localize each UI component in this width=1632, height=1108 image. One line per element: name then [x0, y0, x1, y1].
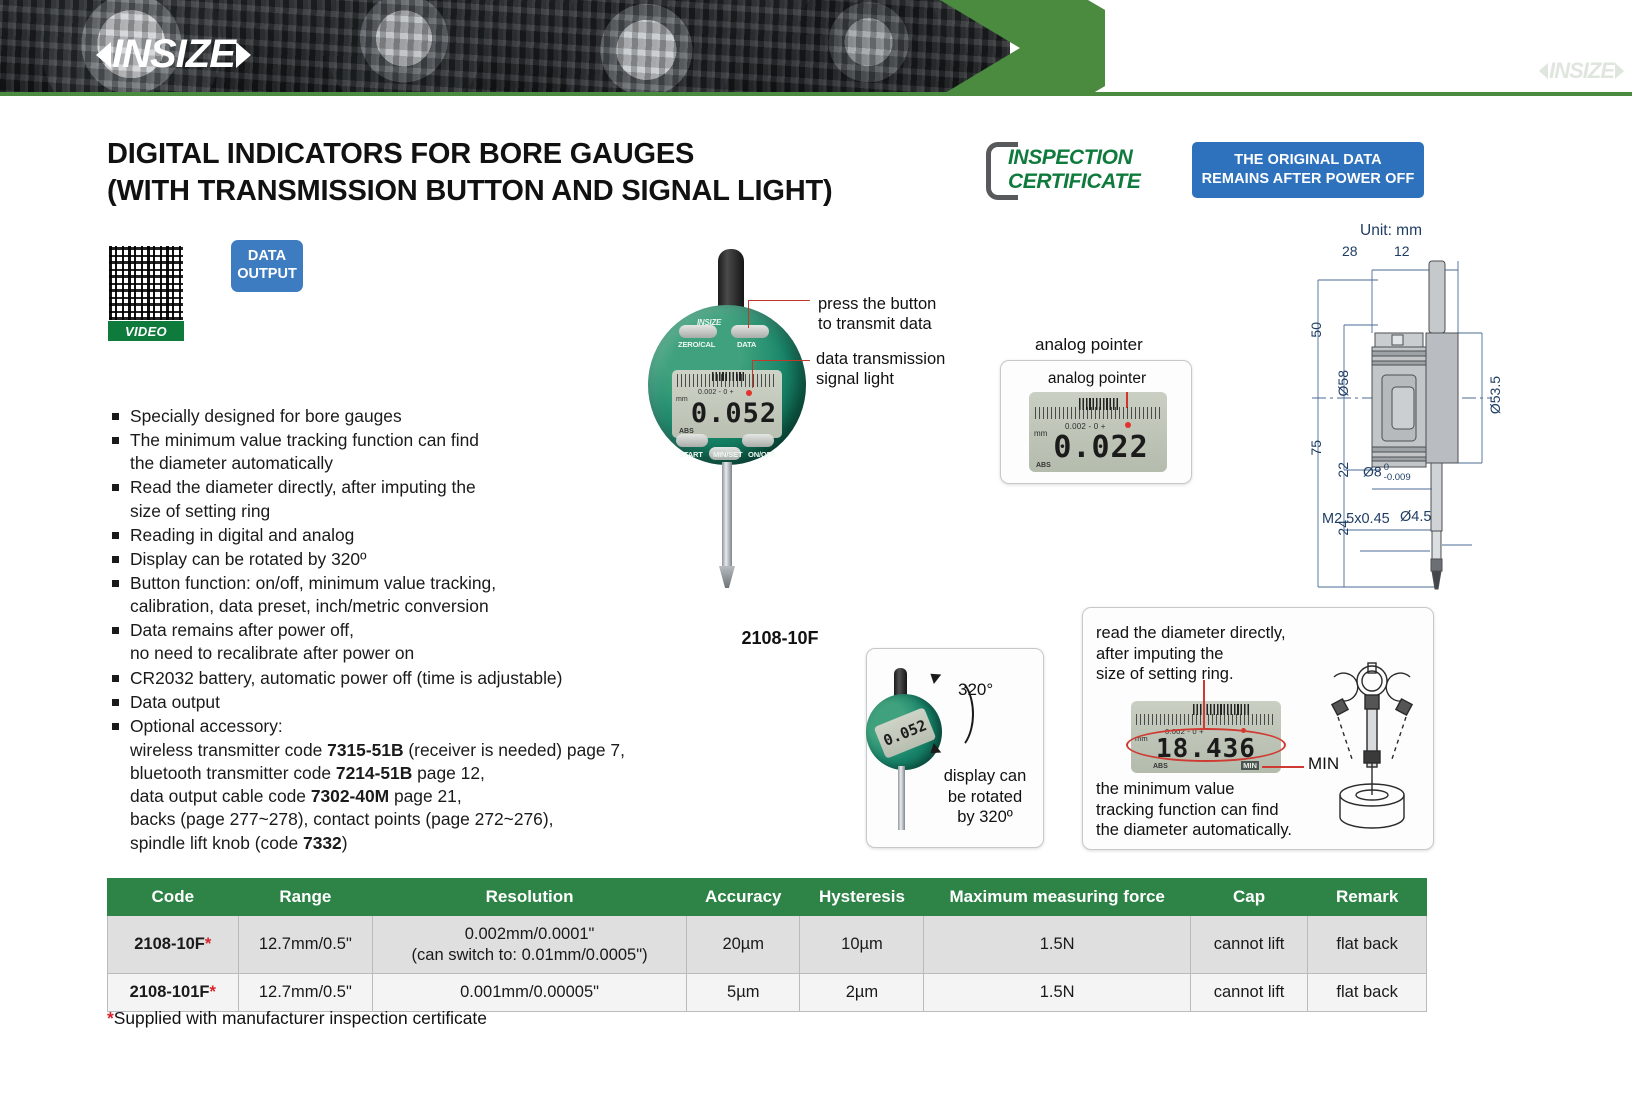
data-output-line2: OUTPUT: [237, 266, 297, 284]
inspection-certificate-badge: INSPECTION CERTIFICATE: [986, 140, 1176, 202]
list-item: Display can be rotated by 320º: [108, 548, 748, 571]
list-item: Data output: [108, 691, 748, 714]
list-item: The minimum value tracking function can …: [108, 429, 748, 475]
feature-text: Optional accessory:: [130, 716, 283, 736]
dim-dia-4-5: Ø4.5: [1400, 509, 1431, 525]
analog-pointer-lcd: 0.002 - 0 + mm 0.022 ABS: [1029, 392, 1167, 472]
footnote-asterisk: *: [107, 1008, 114, 1028]
data-button-label: DATA: [737, 340, 756, 349]
watermark-logo-text: INSIZE: [1549, 58, 1614, 84]
cell-hysteresis: 10µm: [800, 916, 924, 974]
th-code: Code: [108, 879, 239, 916]
feature-subline: the diameter automatically: [130, 452, 748, 475]
data-button[interactable]: [731, 325, 769, 338]
data-output-line1: DATA: [237, 248, 297, 266]
callout-transmit-leader-vertical: [748, 300, 749, 328]
feature-text: Button function: on/off, minimum value t…: [130, 573, 496, 593]
min-bot-line3: the diameter automatically.: [1096, 820, 1336, 841]
accessory-line: spindle lift knob (code 7332): [108, 832, 748, 855]
feature-text: CR2032 battery, automatic power off (tim…: [130, 668, 562, 688]
watermark-right-arrow-icon: [1615, 63, 1624, 79]
callout-transmit-leader: [748, 300, 810, 301]
accessory-post: ): [342, 833, 348, 853]
footnote-text: Supplied with manufacturer inspection ce…: [114, 1008, 487, 1028]
feature-text: Data output: [130, 692, 220, 712]
th-resolution: Resolution: [373, 879, 687, 916]
min-top-line3: size of setting ring.: [1096, 664, 1326, 685]
rotation-degrees-label: 320°: [958, 680, 993, 700]
list-item: Optional accessory:: [108, 715, 748, 738]
list-item: Read the diameter directly, after imputi…: [108, 476, 748, 522]
cell-force: 1.5N: [924, 916, 1190, 974]
callout-signal-leader: [752, 360, 810, 361]
dim-dia-58: Ø58: [1335, 370, 1351, 396]
callout-signal-light: data transmission signal light: [816, 349, 945, 390]
insize-watermark-logo: INSIZE: [1539, 58, 1624, 84]
accessory-pre: wireless transmitter code: [130, 740, 327, 760]
code-value: 2108-10F: [134, 935, 205, 953]
cell-resolution: 0.001mm/0.00005": [373, 974, 687, 1012]
feature-subline: size of setting ring: [130, 500, 748, 523]
min-leader-vertical: [1203, 680, 1205, 728]
dim-dia-53-5: Ø53.5: [1487, 376, 1503, 414]
cell-range: 12.7mm/0.5": [238, 974, 373, 1012]
start-button-label: START: [679, 450, 703, 459]
accessory-post: page 21,: [389, 786, 462, 806]
logo-right-arrow-icon: [236, 42, 251, 68]
lcd-signal-light-icon: [746, 390, 752, 396]
lcd-analog-pointer-bar: [1193, 704, 1251, 715]
accessory-pre: data output cable code: [130, 786, 311, 806]
cell-hysteresis: 2µm: [800, 974, 924, 1012]
min-bot-line1: the minimum value: [1096, 779, 1336, 800]
original-data-line1: THE ORIGINAL DATA: [1202, 151, 1415, 170]
analog-pointer-caption: analog pointer: [1035, 335, 1143, 355]
lcd-mode-abs: ABS: [1036, 462, 1051, 469]
cell-cap: cannot lift: [1190, 974, 1307, 1012]
dim-22: 22: [1335, 462, 1351, 478]
feature-text: Specially designed for bore gauges: [130, 406, 402, 426]
certificate-badge-text: INSPECTION CERTIFICATE: [1008, 146, 1141, 193]
dia-8-tol-lower: -0.009: [1384, 473, 1411, 483]
dim-28: 28: [1342, 243, 1358, 259]
video-qr-block[interactable]: VIDEO: [108, 245, 184, 341]
page-title-line2: (WITH TRANSMISSION BUTTON AND SIGNAL LIG…: [107, 173, 1007, 210]
rotation-caption: display can be rotated by 320º: [930, 766, 1040, 828]
min-top-line2: after imputing the: [1096, 644, 1326, 665]
lcd-signal-light-icon: [1125, 422, 1131, 428]
th-hysteresis: Hysteresis: [800, 879, 924, 916]
accessory-line: wireless transmitter code 7315-51B (rece…: [108, 739, 748, 762]
min-top-line1: read the diameter directly,: [1096, 623, 1326, 644]
video-label[interactable]: VIDEO: [108, 321, 184, 341]
min-panel-top-text: read the diameter directly, after imputi…: [1096, 623, 1326, 685]
lcd-value: 0.022: [1045, 430, 1157, 465]
callout-transmit-line2: to transmit data: [818, 314, 936, 334]
min-set-button-label: MIN/SET: [713, 450, 742, 459]
th-range: Range: [238, 879, 373, 916]
accessory-pre: spindle lift knob (code: [130, 833, 303, 853]
rotation-gauge-shaft: [898, 766, 905, 830]
feature-subline: calibration, data preset, inch/metric co…: [130, 595, 748, 618]
rotation-caption-line1: display can: [930, 766, 1040, 787]
accessory-pre: backs (page 277~278), contact points (pa…: [130, 809, 553, 829]
rotation-caption-line2: be rotated: [930, 787, 1040, 808]
resolution-line2: (can switch to: 0.01mm/0.0005"): [379, 945, 680, 966]
data-output-badge: DATA OUTPUT: [231, 240, 303, 292]
lcd-analog-pointer-bar: [1079, 398, 1119, 410]
lcd-mode-abs: ABS: [1153, 763, 1168, 770]
on-off-button-label: ON/OFF: [748, 450, 775, 459]
insize-logo: INSIZE: [96, 32, 251, 77]
dim-dia-8: Ø8 0 -0.009: [1363, 463, 1411, 483]
code-asterisk: *: [205, 935, 211, 953]
setting-ring-illustration: [1318, 655, 1426, 835]
th-max-force: Maximum measuring force: [924, 879, 1190, 916]
on-off-button[interactable]: [742, 434, 774, 447]
table-header-row: Code Range Resolution Accuracy Hysteresi…: [108, 879, 1427, 916]
accessory-pre: bluetooth transmitter code: [130, 763, 336, 783]
watermark-left-arrow-icon: [1539, 63, 1548, 79]
accessory-code: 7214-51B: [336, 763, 412, 783]
product-lcd-display: 0.002 - 0 + mm 0.052 ABS: [672, 370, 782, 438]
start-button[interactable]: [676, 434, 708, 447]
certificate-line1: INSPECTION: [1008, 146, 1141, 170]
callout-signal-line1: data transmission: [816, 349, 945, 369]
accessory-code: 7332: [303, 833, 342, 853]
insize-logo-text: INSIZE: [112, 32, 235, 77]
table-row: 2108-10F* 12.7mm/0.5" 0.002mm/0.0001" (c…: [108, 916, 1427, 974]
cell-remark: flat back: [1308, 916, 1427, 974]
accessory-code: 7302-40M: [311, 786, 389, 806]
accessory-line: bluetooth transmitter code 7214-51B page…: [108, 762, 748, 785]
zero-cal-button[interactable]: [679, 325, 717, 338]
cell-code: 2108-101F*: [108, 974, 239, 1012]
lcd-value: 0.052: [690, 398, 778, 429]
analog-pointer-needle-icon: [1126, 392, 1128, 408]
lcd-min-flag: MIN: [1241, 761, 1259, 770]
cell-range: 12.7mm/0.5": [238, 916, 373, 974]
dim-75: 75: [1308, 440, 1324, 456]
lcd-unit-label: mm: [676, 396, 688, 403]
page-title: DIGITAL INDICATORS FOR BORE GAUGES (WITH…: [107, 136, 1007, 210]
min-value-highlight-ellipse: [1126, 728, 1286, 762]
accessory-line: backs (page 277~278), contact points (pa…: [108, 808, 748, 831]
cell-resolution: 0.002mm/0.0001" (can switch to: 0.01mm/0…: [373, 916, 687, 974]
th-cap: Cap: [1190, 879, 1307, 916]
accessory-code: 7315-51B: [327, 740, 403, 760]
th-accuracy: Accuracy: [687, 879, 800, 916]
specifications-table: Code Range Resolution Accuracy Hysteresi…: [107, 878, 1427, 1012]
min-bot-line2: tracking function can find: [1096, 800, 1336, 821]
feature-text: Read the diameter directly, after imputi…: [130, 477, 476, 497]
original-data-badge: THE ORIGINAL DATA REMAINS AFTER POWER OF…: [1192, 142, 1424, 198]
feature-text: Data remains after power off,: [130, 620, 354, 640]
feature-text: Display can be rotated by 320º: [130, 549, 366, 569]
code-value: 2108-101F: [130, 983, 210, 1001]
lcd-analog-scale: [1136, 714, 1276, 725]
cell-accuracy: 5µm: [687, 974, 800, 1012]
feature-text: The minimum value tracking function can …: [130, 430, 479, 450]
th-remark: Remark: [1308, 879, 1427, 916]
table-row: 2108-101F* 12.7mm/0.5" 0.001mm/0.00005" …: [108, 974, 1427, 1012]
accessory-post: (receiver is needed) page 7,: [404, 740, 625, 760]
table-footnote: *Supplied with manufacturer inspection c…: [107, 1008, 487, 1029]
cell-force: 1.5N: [924, 974, 1190, 1012]
list-item: Button function: on/off, minimum value t…: [108, 572, 748, 618]
rotation-caption-line3: by 320º: [930, 807, 1040, 828]
lcd-analog-pointer-bar: [712, 372, 744, 381]
dim-thread: M2.5x0.45: [1322, 511, 1390, 527]
qr-code-icon[interactable]: [108, 245, 184, 321]
zero-cal-button-label: ZERO/CAL: [678, 340, 715, 349]
callout-transmit-data: press the button to transmit data: [818, 294, 936, 335]
original-data-line2: REMAINS AFTER POWER OFF: [1202, 170, 1415, 189]
dim-12: 12: [1394, 243, 1410, 259]
dia-8-value: Ø8: [1363, 464, 1382, 480]
code-asterisk: *: [209, 983, 215, 1001]
accessory-post: page 12,: [412, 763, 485, 783]
cell-accuracy: 20µm: [687, 916, 800, 974]
accessory-line: data output cable code 7302-40M page 21,: [108, 785, 748, 808]
cell-remark: flat back: [1308, 974, 1427, 1012]
analog-pointer-inner-caption: analog pointer: [1012, 370, 1182, 388]
dim-50: 50: [1308, 322, 1324, 338]
page-title-line1: DIGITAL INDICATORS FOR BORE GAUGES: [107, 136, 1007, 173]
header-green-rule: [0, 92, 1632, 96]
min-panel-bottom-text: the minimum value tracking function can …: [1096, 779, 1336, 841]
cell-code: 2108-10F*: [108, 916, 239, 974]
lcd-subscale-text: 0.002 - 0 +: [698, 389, 734, 396]
feature-text: Reading in digital and analog: [130, 525, 354, 545]
min-leader-horizontal: [1262, 766, 1304, 768]
product-model-label: 2108-10F: [600, 628, 960, 649]
cell-cap: cannot lift: [1190, 916, 1307, 974]
callout-signal-leader-vertical: [752, 360, 753, 388]
logo-left-arrow-icon: [96, 42, 111, 68]
certificate-line2: CERTIFICATE: [1008, 170, 1141, 194]
list-item: CR2032 battery, automatic power off (tim…: [108, 667, 748, 690]
technical-drawing: [1220, 215, 1620, 595]
resolution-line1: 0.002mm/0.0001": [379, 924, 680, 945]
callout-signal-line2: signal light: [816, 369, 945, 389]
list-item: Reading in digital and analog: [108, 524, 748, 547]
product-shaft: [722, 462, 732, 570]
callout-transmit-line1: press the button: [818, 294, 936, 314]
